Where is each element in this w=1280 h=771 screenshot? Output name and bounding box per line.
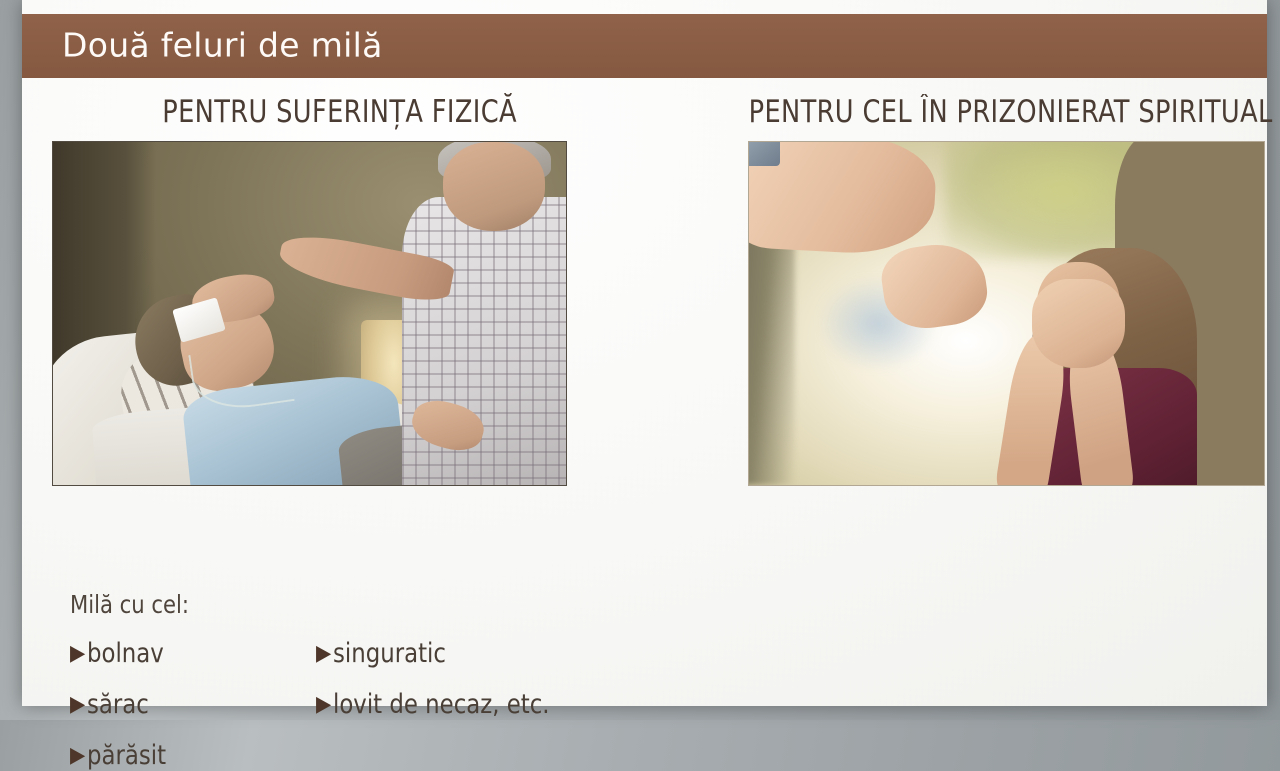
list-item-label: singuratic (333, 638, 446, 669)
column-left-heading: PENTRU SUFERINȚA FIZICĂ (54, 92, 615, 132)
triangle-bullet-icon: ▶ (70, 745, 85, 767)
list-item-label: bolnav (87, 638, 164, 669)
triangle-bullet-icon: ▶ (316, 694, 331, 716)
caregiver-shirt (402, 197, 567, 486)
woman-hands-covering-face (1032, 279, 1125, 368)
slide-header-bar: Două feluri de milă (22, 14, 1267, 78)
photo-left-scene (53, 142, 566, 485)
list-item: ▶ singuratic (316, 638, 453, 669)
triangle-bullet-icon: ▶ (70, 643, 85, 665)
list-item: ▶ bolnav (70, 638, 169, 669)
triangle-bullet-icon: ▶ (70, 694, 85, 716)
caregiver-head (443, 142, 546, 231)
list-item-label: lovit de necaz, etc. (333, 689, 550, 720)
photo-helping-hand-distressed-woman (748, 141, 1265, 486)
list-item-label: sărac (87, 689, 149, 720)
triangle-bullet-icon: ▶ (316, 643, 331, 665)
list-intro-left: Milă cu cel: (70, 590, 189, 619)
list-item: ▶ sărac (70, 689, 153, 720)
presentation-slide: Două feluri de milă PENTRU SUFERINȚA FIZ… (22, 0, 1267, 706)
slide-title: Două feluri de milă (62, 26, 383, 65)
list-item: ▶ părăsit (70, 740, 171, 771)
list-item: ▶ lovit de necaz, etc. (316, 689, 564, 720)
helper-sleeve (748, 141, 780, 166)
column-physical-suffering: PENTRU SUFERINȚA FIZICĂ (30, 92, 640, 486)
column-right-heading: PENTRU CEL ÎN PRIZONIERAT SPIRITUAL (749, 92, 1246, 132)
list-item-label: părăsit (87, 740, 166, 771)
photo-sick-woman-caregiver (52, 141, 567, 486)
photo-right-scene (749, 142, 1264, 485)
column-spiritual-imprisonment: PENTRU CEL ÎN PRIZONIERAT SPIRITUAL Milă… (727, 92, 1267, 486)
